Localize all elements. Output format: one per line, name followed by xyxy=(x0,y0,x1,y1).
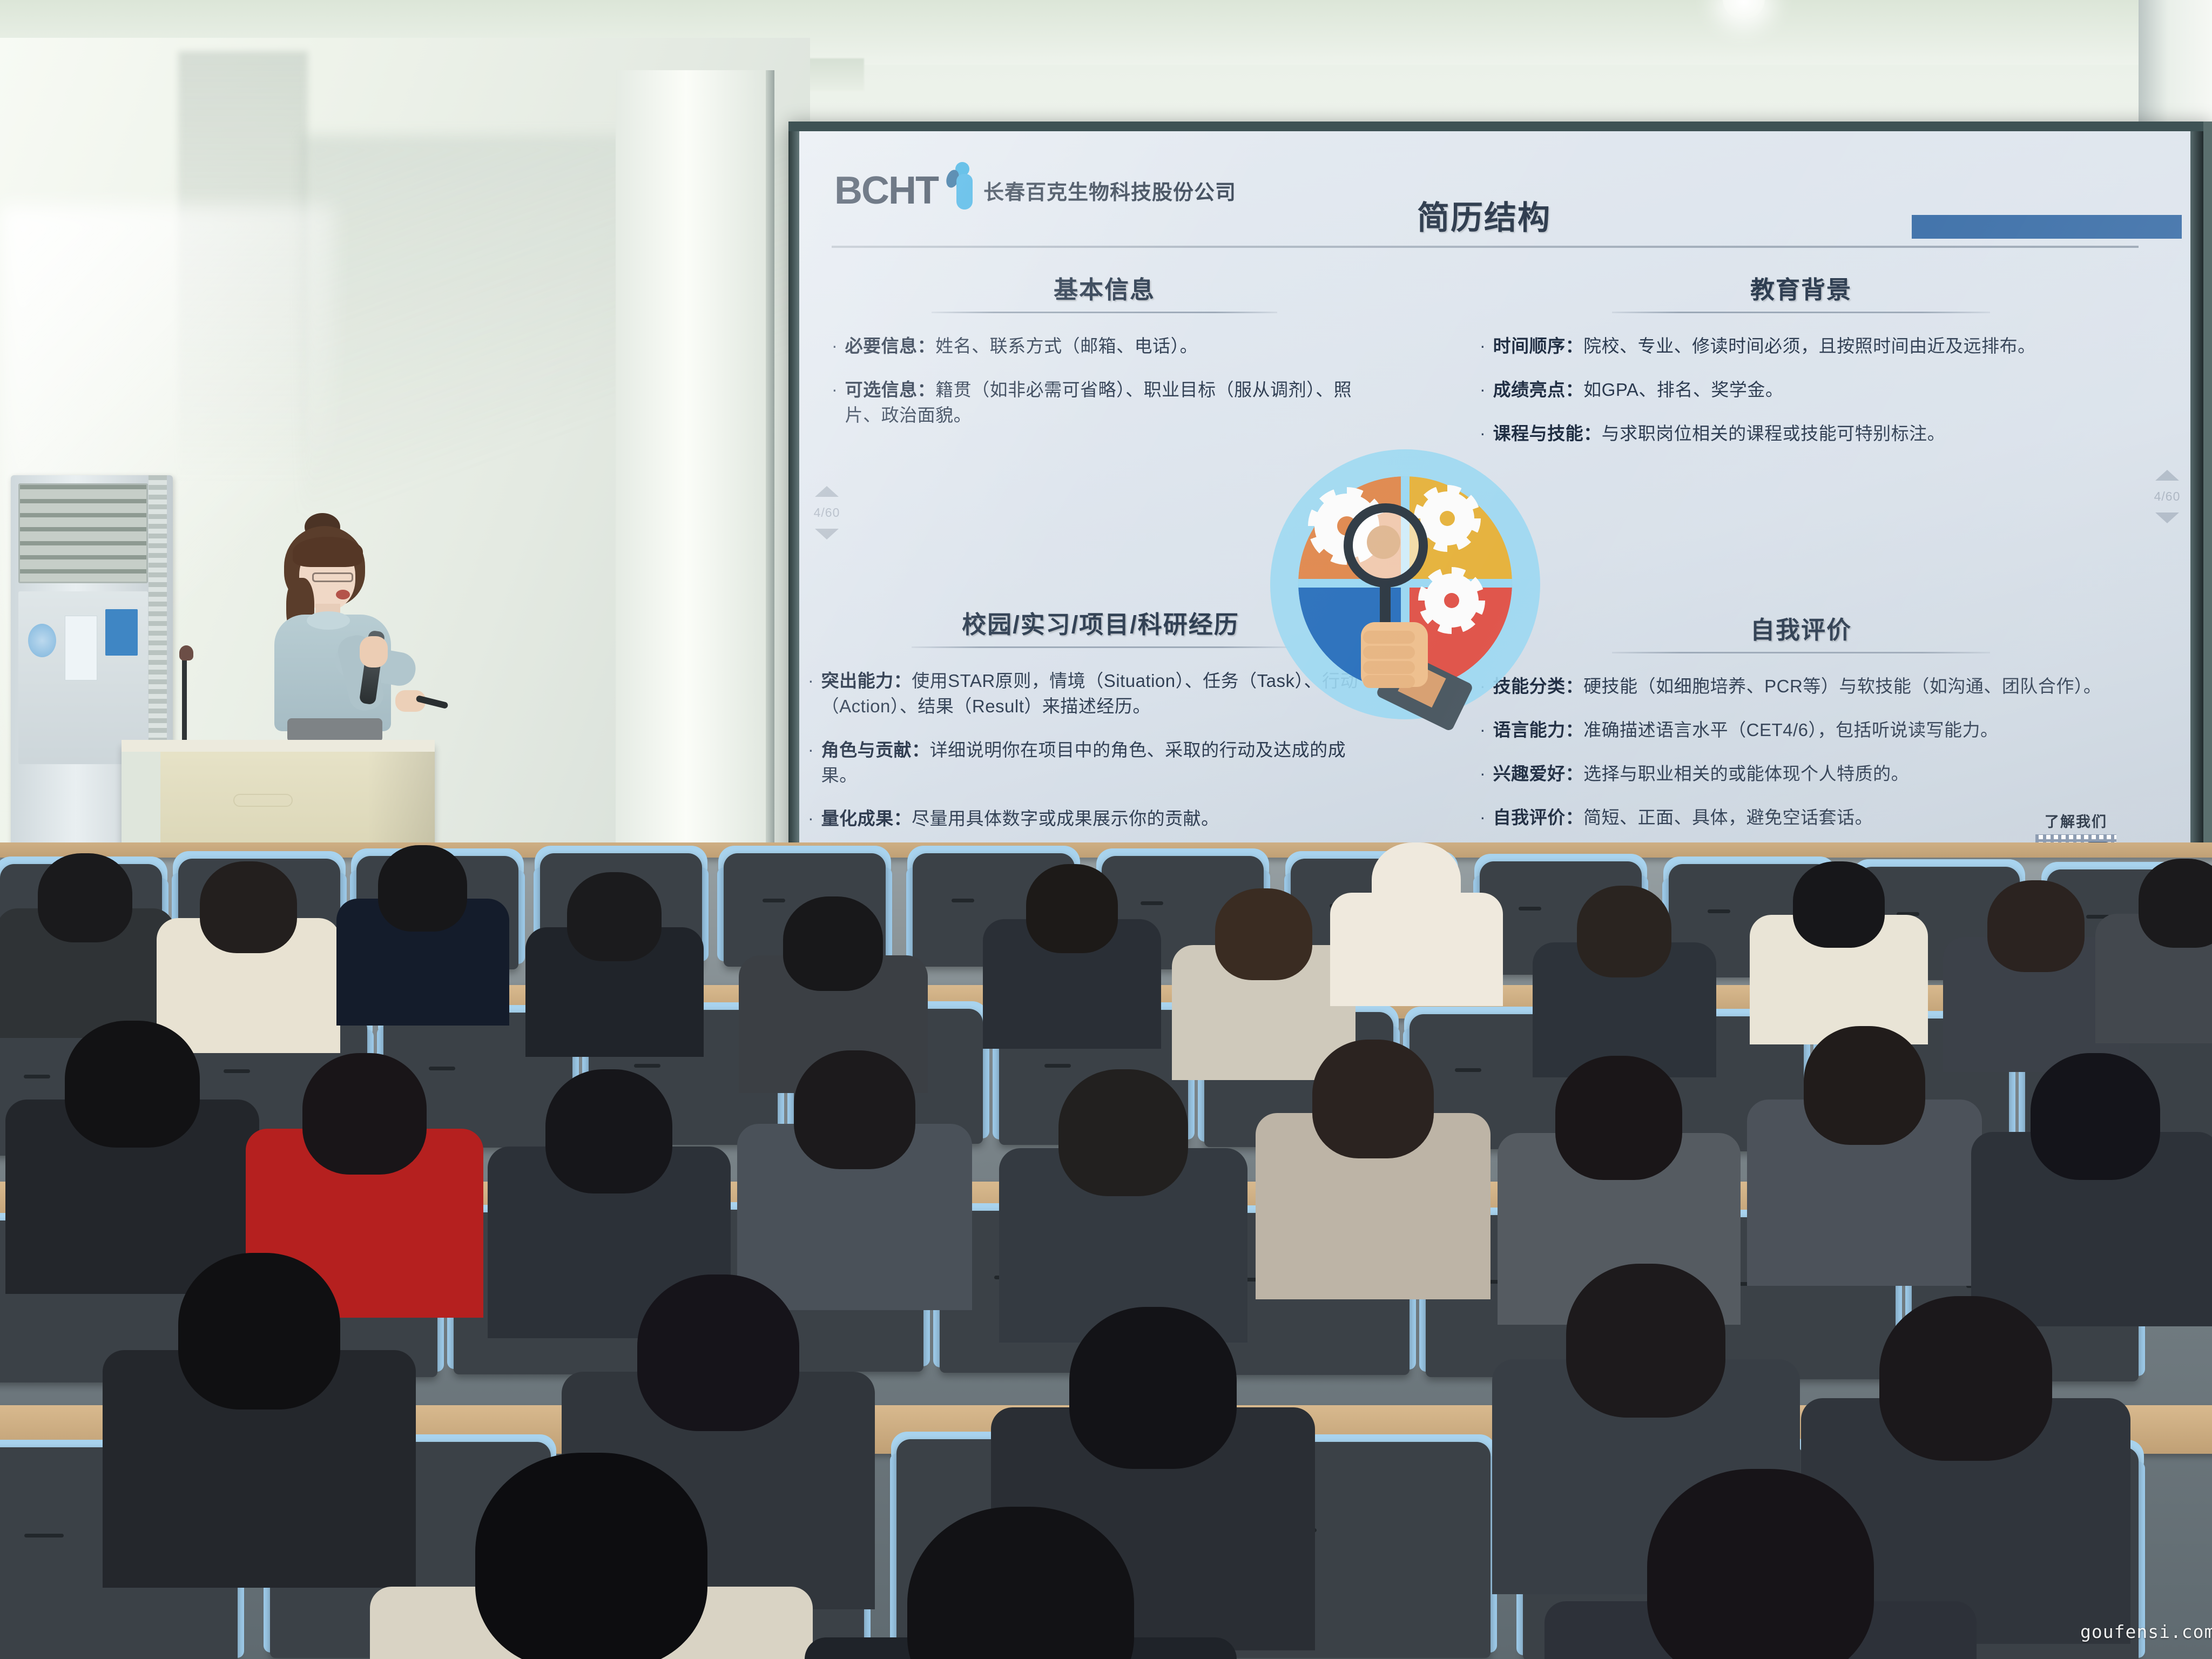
air-cooler-grill xyxy=(18,483,148,583)
triangle-down-icon[interactable] xyxy=(2155,512,2179,523)
bullet-dot-icon: · xyxy=(1480,334,1486,359)
audience-member-head xyxy=(178,1253,340,1410)
bullet-dot-icon: · xyxy=(1480,718,1486,743)
list-item: · 角色与贡献：详细说明你在项目中的角色、采取的行动及达成的成果。 xyxy=(808,738,1381,788)
section-basic-info: 基本信息 · 必要信息：姓名、联系方式（邮箱、电话）。 · 可选信息：籍贯（如非… xyxy=(832,270,1377,447)
bullet-dot-icon: · xyxy=(808,669,814,719)
audience-area xyxy=(0,842,2212,1659)
bullet-text: 硬技能（如细胞培养、PCR等）与软技能（如沟通、团队合作）。 xyxy=(1583,676,2101,696)
audience-member-head xyxy=(1372,842,1461,923)
audience-member-head xyxy=(2031,1053,2160,1180)
magnifier-gears-pie-icon xyxy=(1270,449,1540,719)
audience-member-head xyxy=(378,845,467,932)
screen-bezel-left xyxy=(788,122,799,910)
audience-member-head xyxy=(200,861,297,953)
screen-bezel-top xyxy=(788,122,2203,131)
hand-finger xyxy=(1363,631,1415,644)
bullet-label: 自我评价： xyxy=(1493,807,1584,827)
brand-figure-icon xyxy=(946,161,976,208)
bullet-list: · 必要信息：姓名、联系方式（邮箱、电话）。 · 可选信息：籍贯（如非必需可省略… xyxy=(832,334,1377,428)
list-item: · 技能分类：硬技能（如细胞培养、PCR等）与软技能（如沟通、团队合作）。 xyxy=(1480,674,2122,699)
screenshot-root: BCHT 长春百克生物科技股份公司 简历结构 基本信息 · 必要信息：姓名、联系… xyxy=(0,0,2212,1659)
bullet-label: 课程与技能： xyxy=(1493,423,1602,443)
bullet-dot-icon: · xyxy=(1480,761,1486,787)
audience-member-head xyxy=(794,1050,915,1169)
wall-pillar-edge xyxy=(766,70,774,864)
bullet-text: 院校、专业、修读时间必须，且按照时间由近及远排布。 xyxy=(1583,336,2036,356)
bullet-dot-icon: · xyxy=(1480,805,1486,831)
list-item: · 时间顺序：院校、专业、修读时间必须，且按照时间由近及远排布。 xyxy=(1480,334,2122,359)
section-underline xyxy=(912,646,1290,648)
bullet-label: 语言能力： xyxy=(1493,720,1584,740)
audience-member-head xyxy=(1058,1069,1188,1196)
lectern-top xyxy=(122,740,435,752)
bullet-label: 突出能力： xyxy=(821,671,912,691)
presenter-trousers xyxy=(287,718,382,742)
wall-pillar xyxy=(616,70,772,864)
bullet-label: 角色与贡献： xyxy=(821,740,930,760)
section-heading: 基本信息 xyxy=(832,270,1377,305)
slide-title: 简历结构 xyxy=(1417,192,1551,239)
audience-member-head xyxy=(1566,1264,1725,1418)
bullet-label: 时间顺序： xyxy=(1493,336,1584,356)
osd-value: 4/60 xyxy=(2154,489,2181,504)
audience-member-head xyxy=(65,1021,200,1148)
screen-bezel-right xyxy=(2190,122,2203,910)
bullet-dot-icon: · xyxy=(808,806,814,832)
bullet-label: 成绩亮点： xyxy=(1493,380,1584,400)
audience-member-head xyxy=(1312,1040,1434,1158)
audience-member-head xyxy=(1793,861,1885,948)
list-item: · 必要信息：姓名、联系方式（邮箱、电话）。 xyxy=(832,334,1377,359)
brand-logo: BCHT 长春百克生物科技股份公司 xyxy=(834,161,1236,208)
audience-member-head xyxy=(1026,864,1118,953)
audience-member-head xyxy=(302,1053,427,1175)
gear-icon-right xyxy=(1432,581,1471,620)
hand-finger xyxy=(1363,661,1415,674)
bullet-text: 选择与职业相关的或能体现个人特质的。 xyxy=(1583,764,1909,784)
bullet-text: 尽量用具体数字或成果展示你的贡献。 xyxy=(912,808,1219,828)
presenter-fringe xyxy=(293,537,363,567)
bullet-label: 兴趣爱好： xyxy=(1493,764,1584,784)
audience-member-head xyxy=(1647,1469,1874,1659)
audience-member-head xyxy=(637,1274,799,1431)
osd-control-left[interactable]: 4/60 xyxy=(808,486,846,539)
lectern-logo xyxy=(233,794,293,807)
osd-value: 4/60 xyxy=(814,505,840,520)
audience-member-head xyxy=(783,896,883,991)
section-underline xyxy=(1612,312,1990,313)
section-heading: 教育背景 xyxy=(1480,270,2122,305)
section-education-background: 教育背景 · 时间顺序：院校、专业、修读时间必须，且按照时间由近及远排布。 · … xyxy=(1480,270,2122,465)
audience-member-head xyxy=(1215,888,1312,980)
microphone-head xyxy=(179,645,193,660)
list-item: · 课程与技能：与求职岗位相关的课程或技能可特别标注。 xyxy=(1480,421,2122,447)
bullet-text: 与求职岗位相关的课程或技能可特别标注。 xyxy=(1602,423,1946,443)
header-divider xyxy=(832,246,2139,248)
list-item: · 兴趣爱好：选择与职业相关的或能体现个人特质的。 xyxy=(1480,761,2122,787)
air-cooler-label-blue xyxy=(105,609,138,656)
list-item: · 可选信息：籍贯（如非必需可省略）、职业目标（服从调剂）、照片、政治面貌。 xyxy=(832,377,1377,428)
bullet-dot-icon: · xyxy=(1480,421,1486,447)
bullet-label: 量化成果： xyxy=(821,808,912,828)
audience-member-head xyxy=(38,853,132,942)
brand-company-name: 长春百克生物科技股份公司 xyxy=(983,176,1236,208)
bullet-text: 如GPA、排名、奖学金。 xyxy=(1583,380,1783,400)
triangle-up-icon[interactable] xyxy=(2155,470,2179,481)
osd-control-right[interactable]: 4/60 xyxy=(2148,470,2186,523)
section-underline xyxy=(932,312,1277,313)
list-item: · 语言能力：准确描述语言水平（CET4/6），包括听说读写能力。 xyxy=(1480,718,2122,743)
glasses-icon xyxy=(312,572,353,582)
bullet-text: 简短、正面、具体，避免空话套话。 xyxy=(1583,807,1873,827)
bullet-text: 姓名、联系方式（邮箱、电话）。 xyxy=(935,336,1198,356)
header-accent-bar xyxy=(1912,215,2182,239)
section-underline xyxy=(1612,652,1990,653)
section-heading: 自我评价 xyxy=(1480,610,2122,645)
bullet-text: 准确描述语言水平（CET4/6），包括听说读写能力。 xyxy=(1583,720,1998,740)
presenter-mouth xyxy=(336,590,350,599)
audience-member-head xyxy=(567,872,662,961)
bullet-dot-icon: · xyxy=(808,738,814,788)
audience-member-head xyxy=(1069,1307,1237,1469)
audience-member-head xyxy=(1879,1296,2052,1461)
watermark: goufensi.com xyxy=(2080,1621,2212,1642)
gear-icon-top xyxy=(1428,499,1467,538)
list-item: · 成绩亮点：如GPA、排名、奖学金。 xyxy=(1480,377,2122,403)
bullet-list: · 时间顺序：院校、专业、修读时间必须，且按照时间由近及远排布。 · 成绩亮点：… xyxy=(1480,334,2122,447)
audience-member-head xyxy=(1987,880,2085,972)
hand-finger xyxy=(1363,675,1415,688)
presenter-hand-holding-mic xyxy=(360,636,388,667)
qr-caption: 了解我们 xyxy=(2022,810,2130,831)
audience-member-head xyxy=(1577,886,1671,977)
triangle-up-icon[interactable] xyxy=(815,486,839,497)
triangle-down-icon[interactable] xyxy=(815,529,839,539)
bullet-label: 必要信息： xyxy=(845,336,936,356)
audience-member-head xyxy=(2139,859,2212,948)
bullet-dot-icon: · xyxy=(1480,377,1486,403)
audience-member-head xyxy=(475,1453,707,1659)
list-item: · 量化成果：尽量用具体数字或成果展示你的贡献。 xyxy=(808,806,1381,832)
bullet-dot-icon: · xyxy=(832,377,838,428)
bullet-dot-icon: · xyxy=(832,334,838,359)
bullet-list: · 技能分类：硬技能（如细胞培养、PCR等）与软技能（如沟通、团队合作）。 · … xyxy=(1480,674,2122,830)
hand-finger xyxy=(1363,646,1415,659)
air-cooler-badge xyxy=(28,624,56,657)
air-cooler-label xyxy=(65,616,97,680)
audience-member-head xyxy=(1555,1056,1682,1180)
presenter xyxy=(254,518,416,751)
magnifier-icon xyxy=(1344,503,1428,588)
brand-wordmark: BCHT xyxy=(834,173,938,208)
audience-member-head xyxy=(545,1069,672,1193)
bullet-label: 可选信息： xyxy=(845,380,936,400)
audience-member-head xyxy=(1804,1026,1925,1145)
presenter-collar xyxy=(307,611,350,630)
